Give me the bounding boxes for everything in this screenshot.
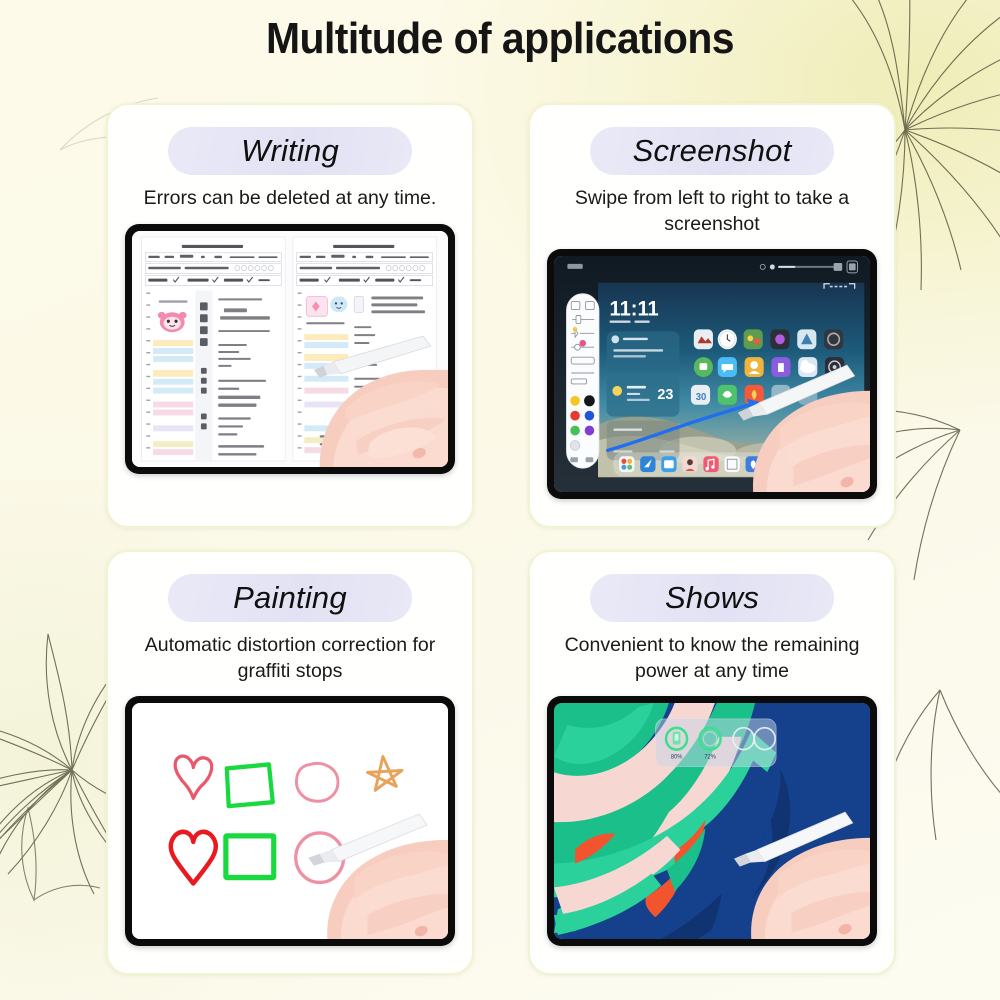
battery-percent-1: 80% — [671, 755, 682, 761]
tablet-frame-screenshot: 11:11 — [547, 249, 877, 499]
tablet-screen-battery-indicator: 80% 72% — [554, 703, 870, 939]
feature-card-writing[interactable]: Writing Errors can be deleted at any tim… — [106, 103, 474, 528]
widget-weather: 23 — [607, 375, 680, 417]
feature-card-screenshot[interactable]: Screenshot Swipe from left to right to t… — [528, 103, 896, 528]
svg-text:30: 30 — [696, 392, 707, 403]
battery-percent-2: 72% — [704, 755, 715, 761]
badge-label: Painting — [233, 580, 347, 616]
badge-label: Writing — [241, 133, 339, 169]
card-description: Errors can be deleted at any time. — [125, 186, 455, 212]
svg-text:11:11: 11:11 — [610, 298, 659, 321]
svg-text:23: 23 — [657, 387, 673, 403]
badge-writing: Writing — [168, 127, 412, 175]
page-title: Multitude of applications — [35, 14, 965, 64]
tablet-screen-home-swipe: 11:11 — [554, 256, 870, 492]
feature-card-painting[interactable]: Painting Automatic distortion correction… — [106, 550, 474, 975]
card-description: Swipe from left to right to take a scree… — [547, 186, 877, 237]
promo-page: Multitude of applications Writing Errors… — [0, 0, 1000, 1000]
floating-palette-toolbar — [566, 294, 599, 469]
tablet-frame-painting — [125, 696, 455, 946]
tablet-frame-writing — [125, 224, 455, 474]
tablet-screen-handwritten-notes — [132, 231, 448, 467]
feature-card-shows[interactable]: Shows Convenient to know the remaining p… — [528, 550, 896, 975]
battery-level-widget: 80% 72% — [656, 719, 777, 767]
tablet-frame-shows: 80% 72% — [547, 696, 877, 946]
badge-label: Screenshot — [633, 133, 792, 169]
badge-shows: Shows — [590, 574, 834, 622]
widget-notes — [607, 332, 680, 372]
card-description: Automatic distortion correction for graf… — [125, 633, 455, 684]
badge-painting: Painting — [168, 574, 412, 622]
badge-screenshot: Screenshot — [590, 127, 834, 175]
feature-card-grid: Writing Errors can be deleted at any tim… — [106, 103, 896, 981]
card-description: Convenient to know the remaining power a… — [547, 633, 877, 684]
badge-label: Shows — [665, 580, 759, 616]
tablet-screen-shape-correction — [132, 703, 448, 939]
